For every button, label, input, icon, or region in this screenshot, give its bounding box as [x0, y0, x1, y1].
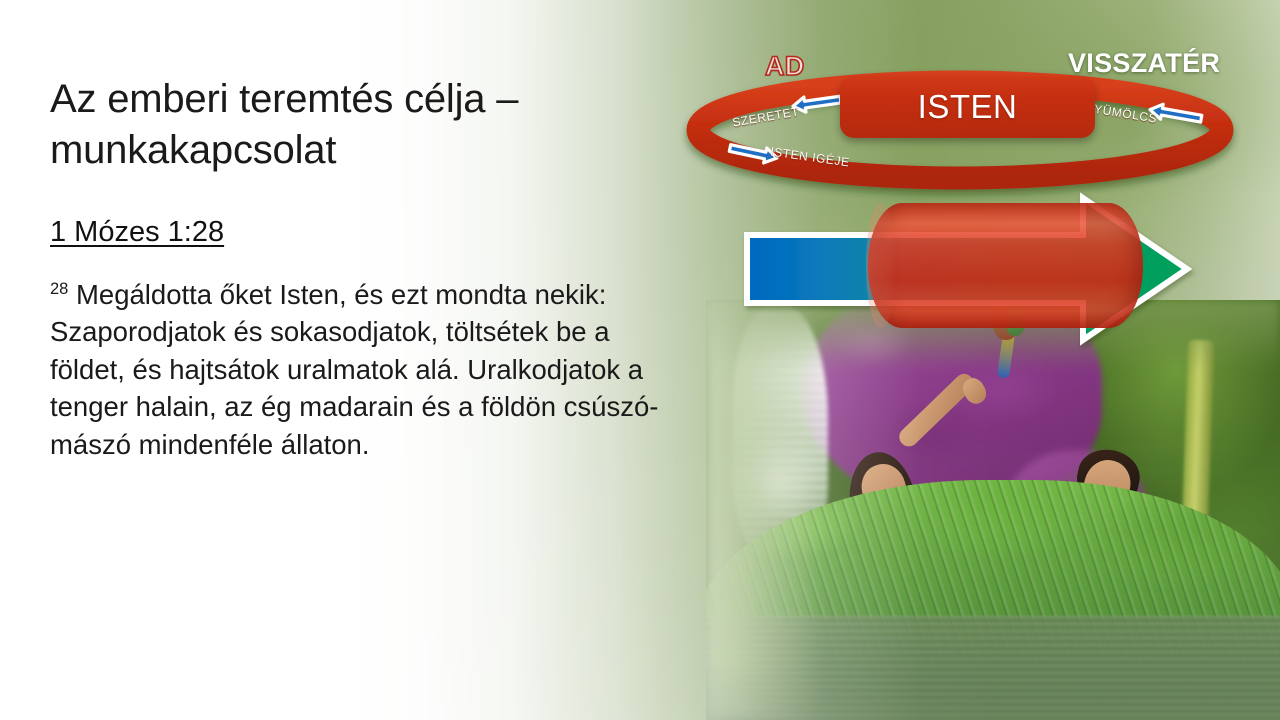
- isten-label: ISTEN: [918, 88, 1018, 126]
- red-cylinder-overlay: [868, 203, 1143, 328]
- process-arrow: [735, 190, 1205, 350]
- isten-box: ISTEN: [840, 76, 1095, 138]
- verse-body: Megáldotta őket Isten, és ezt mondta nek…: [50, 279, 658, 460]
- scripture-text: 28 Megáldotta őket Isten, és ezt mondta …: [50, 276, 682, 463]
- caption-visszater: VISSZATÉR: [1068, 48, 1220, 79]
- caption-ad: AD: [765, 51, 805, 82]
- slide-root: Az emberi teremtés célja – munkakapcsola…: [0, 0, 1280, 720]
- background-bottom-fade: [0, 440, 1280, 720]
- arrow-left-icon: [792, 92, 842, 114]
- cycle-diagram: SZERETET ISTEN IGÉJE GYÜMÖLCS ISTEN AD V…: [690, 18, 1235, 183]
- scripture-reference: 1 Mózes 1:28: [50, 215, 224, 250]
- verse-number: 28: [50, 280, 68, 298]
- page-title: Az emberi teremtés célja – munkakapcsola…: [50, 74, 650, 176]
